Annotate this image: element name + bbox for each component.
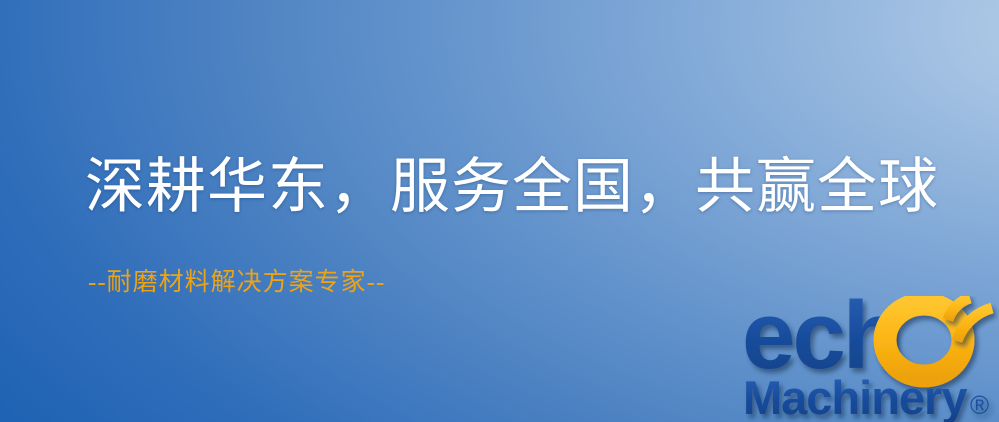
svg-text:Machinery: Machinery: [743, 371, 967, 422]
company-logo[interactable]: ech Machinery ®: [742, 296, 999, 422]
logo-subtext-machinery: Machinery ®: [743, 371, 989, 422]
page-title: 深耕华东，服务全国，共赢全球: [85, 150, 939, 224]
page-subtitle: --耐磨材料解决方案专家--: [88, 266, 385, 300]
svg-text:®: ®: [970, 390, 989, 420]
hero-banner: 深耕华东，服务全国，共赢全球 --耐磨材料解决方案专家--: [0, 0, 999, 422]
